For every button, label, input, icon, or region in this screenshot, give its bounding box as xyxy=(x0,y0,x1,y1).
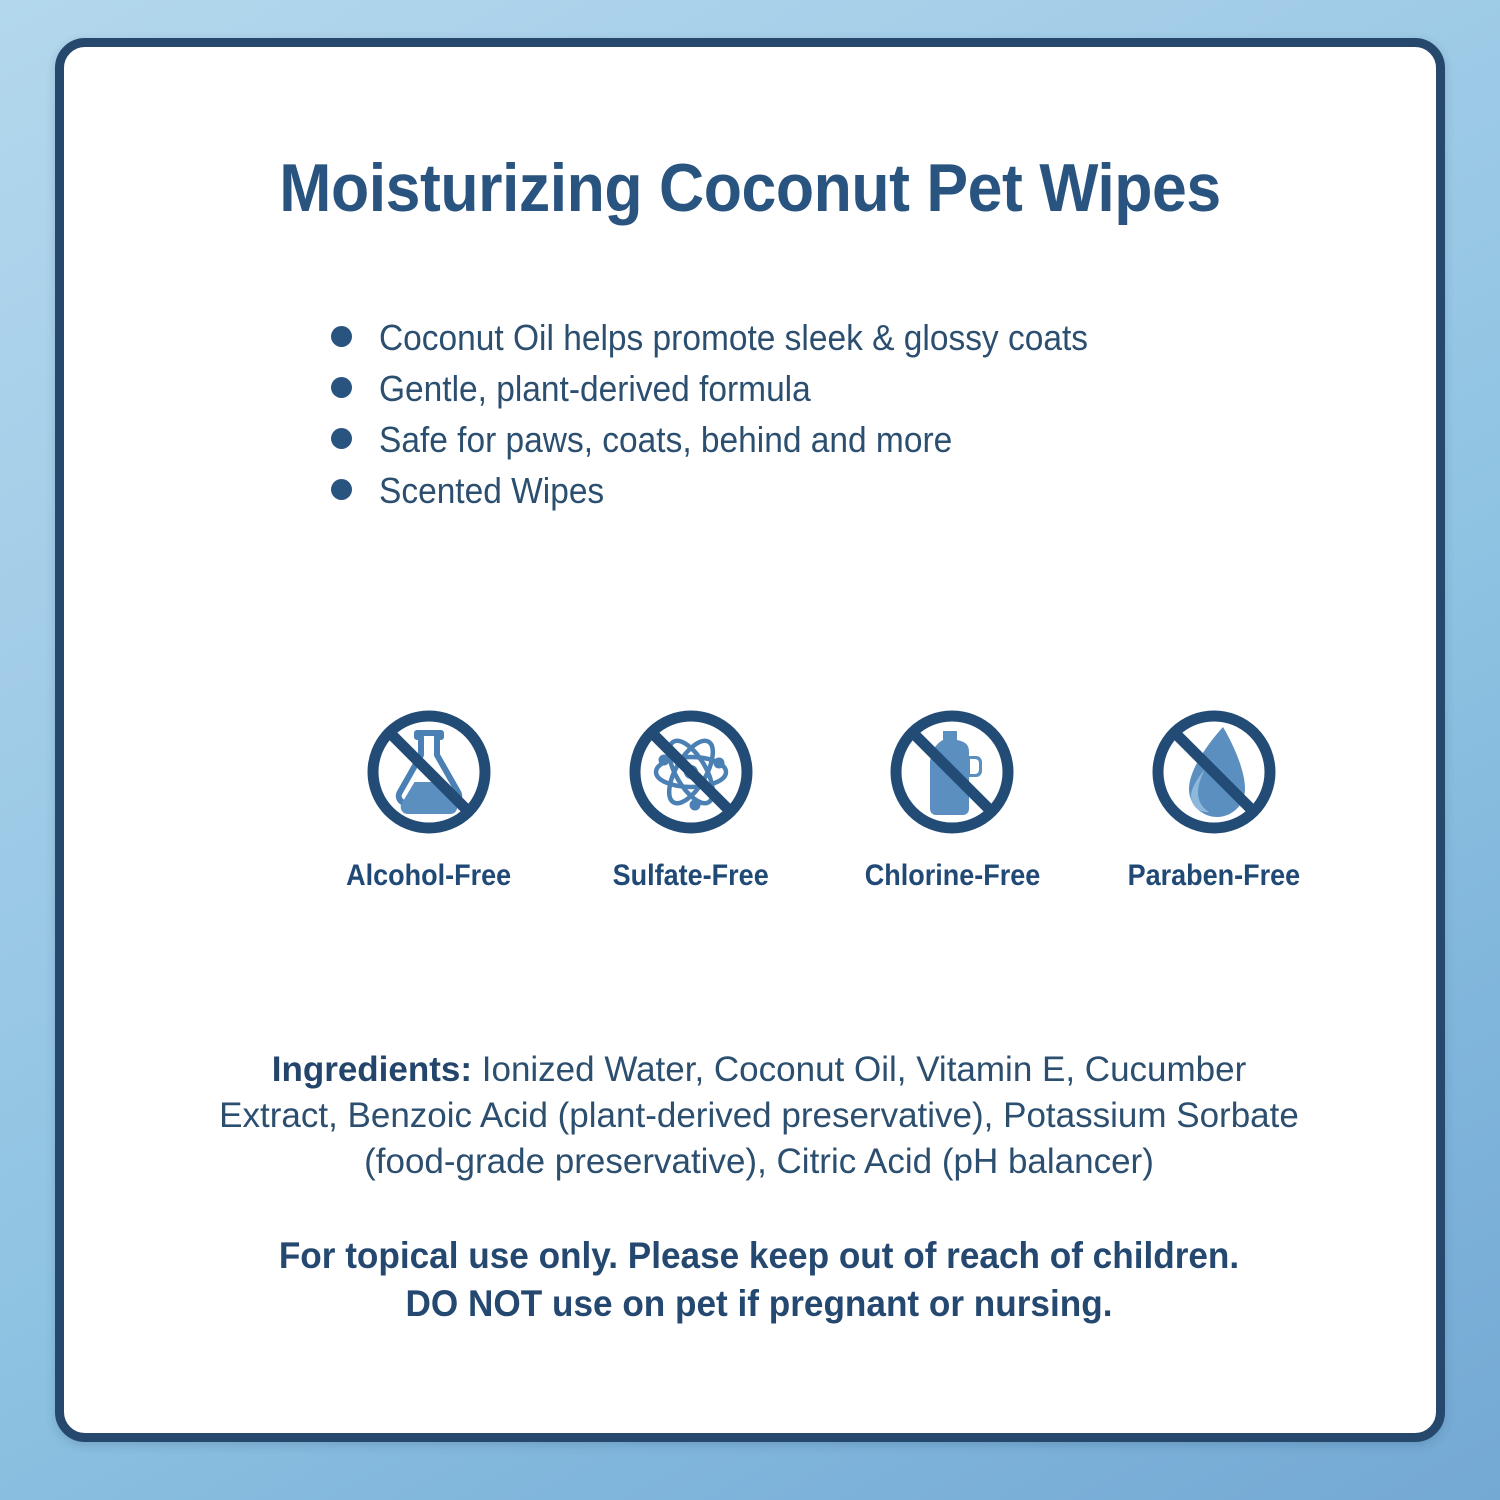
list-item: Gentle, plant-derived formula xyxy=(331,366,1331,412)
benefit-text: Coconut Oil helps promote sleek & glossy… xyxy=(379,315,1088,361)
free-from-badge-row: Alcohol-Free Sulfate-Free xyxy=(329,697,1314,893)
benefits-list: Coconut Oil helps promote sleek & glossy… xyxy=(331,315,1331,519)
no-atom-icon xyxy=(616,697,766,847)
ingredients-block: Ingredients: Ionized Water, Coconut Oil,… xyxy=(214,1047,1304,1185)
warning-line-2: DO NOT use on pet if pregnant or nursing… xyxy=(213,1280,1306,1328)
badge-alcohol-free: Alcohol-Free xyxy=(329,697,529,893)
warning-block: For topical use only. Please keep out of… xyxy=(213,1232,1306,1328)
no-flask-icon xyxy=(354,697,504,847)
warning-line-1: For topical use only. Please keep out of… xyxy=(213,1232,1306,1280)
badge-paraben-free: Paraben-Free xyxy=(1114,697,1314,893)
badge-sulfate-free: Sulfate-Free xyxy=(591,697,791,893)
no-droplet-icon xyxy=(1139,697,1289,847)
list-item: Scented Wipes xyxy=(331,468,1331,514)
badge-label: Chlorine-Free xyxy=(865,859,1041,893)
benefit-text: Scented Wipes xyxy=(379,468,604,514)
benefit-text: Safe for paws, coats, behind and more xyxy=(379,417,952,463)
list-item: Safe for paws, coats, behind and more xyxy=(331,417,1331,463)
filled-dot-icon xyxy=(331,377,352,398)
page-title: Moisturizing Coconut Pet Wipes xyxy=(119,149,1381,227)
no-jug-icon xyxy=(877,697,1027,847)
product-label-card: Moisturizing Coconut Pet Wipes Coconut O… xyxy=(55,38,1445,1442)
badge-label: Paraben-Free xyxy=(1128,859,1301,893)
badge-label: Alcohol-Free xyxy=(346,859,511,893)
benefit-text: Gentle, plant-derived formula xyxy=(379,366,811,412)
filled-dot-icon xyxy=(331,326,352,347)
filled-dot-icon xyxy=(331,479,352,500)
ingredients-label: Ingredients: xyxy=(272,1050,472,1089)
list-item: Coconut Oil helps promote sleek & glossy… xyxy=(331,315,1331,361)
badge-chlorine-free: Chlorine-Free xyxy=(852,697,1052,893)
filled-dot-icon xyxy=(331,428,352,449)
badge-label: Sulfate-Free xyxy=(613,859,769,893)
